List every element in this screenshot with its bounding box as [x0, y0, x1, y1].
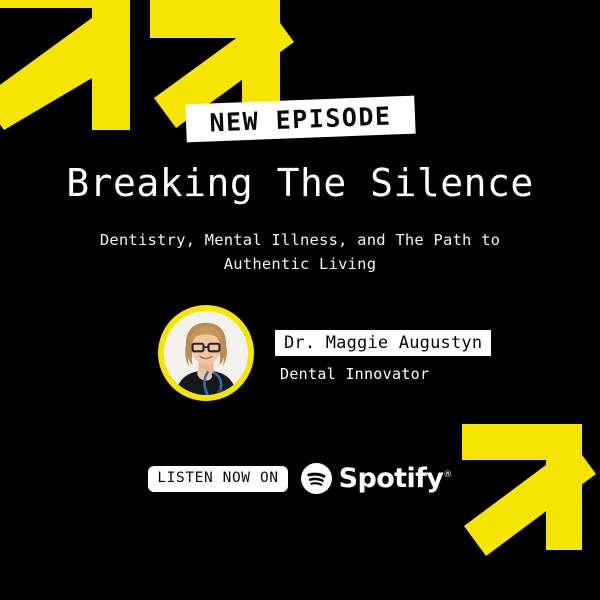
- new-episode-badge: NEW EPISODE: [185, 96, 415, 143]
- new-episode-label: NEW EPISODE: [209, 103, 392, 135]
- portrait-photo-icon: [164, 311, 248, 395]
- trademark-symbol: ®: [443, 470, 451, 480]
- spotify-icon: [301, 463, 332, 494]
- episode-subtitle-line-2: Authentic Living: [60, 252, 540, 276]
- podcast-episode-poster: NEW EPISODE Breaking The Silence Dentist…: [0, 0, 600, 600]
- spotify-wordmark-text: Spotify: [339, 463, 444, 494]
- avatar: [158, 305, 254, 401]
- arrow-up-right-icon: [0, 0, 147, 130]
- page-title: Breaking The Silence: [0, 163, 600, 205]
- spotify-logo[interactable]: Spotify®: [301, 463, 452, 494]
- speaker-role: Dental Innovator: [280, 367, 429, 382]
- listen-now-cta[interactable]: LISTEN NOW ON Spotify®: [0, 463, 600, 494]
- listen-now-label: LISTEN NOW ON: [157, 471, 278, 486]
- speaker-name-chip: Dr. Maggie Augustyn: [275, 330, 491, 356]
- episode-subtitle-line-1: Dentistry, Mental Illness, and The Path …: [60, 228, 540, 252]
- speaker-block: Dr. Maggie Augustyn Dental Innovator: [158, 305, 498, 405]
- spotify-wordmark: Spotify®: [339, 465, 452, 492]
- arrow-up-right-icon: [462, 422, 600, 567]
- episode-subtitle: Dentistry, Mental Illness, and The Path …: [60, 228, 540, 277]
- speaker-name: Dr. Maggie Augustyn: [284, 335, 482, 352]
- listen-now-button[interactable]: LISTEN NOW ON: [148, 466, 287, 492]
